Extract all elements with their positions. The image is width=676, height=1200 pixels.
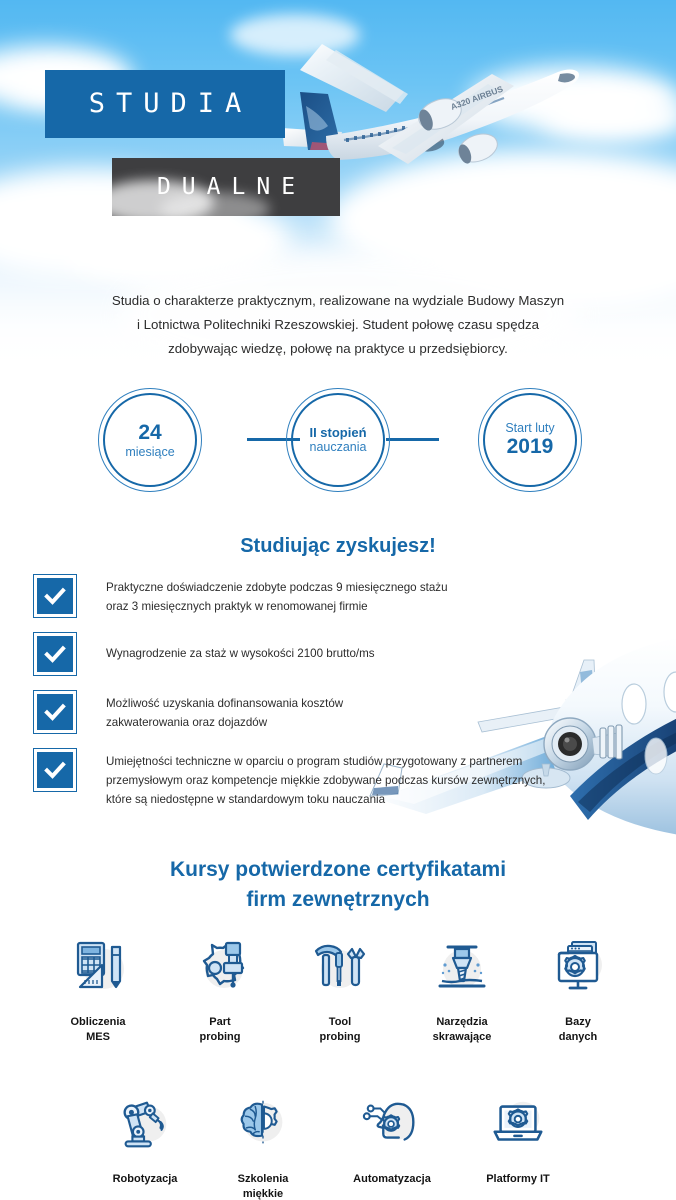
fact-circle-duration: 24 miesiące bbox=[98, 388, 202, 492]
fact-degree-value: II stopień bbox=[309, 426, 366, 441]
milling-cutter-icon bbox=[430, 935, 494, 999]
robot-arm-icon bbox=[114, 1093, 176, 1155]
benefit-text-line: Możliwość uzyskania dofinansowania koszt… bbox=[106, 694, 343, 713]
course-item-part-probing[interactable]: Part probing bbox=[160, 928, 280, 1045]
intro-line-1: Studia o charakterze praktycznym, realiz… bbox=[63, 289, 613, 313]
intro-line-2: i Lotnictwa Politechniki Rzeszowskiej. S… bbox=[63, 313, 613, 337]
connector-right bbox=[386, 438, 439, 441]
course-label-line: Part bbox=[160, 1015, 280, 1030]
fact-start-year: 2019 bbox=[505, 435, 554, 459]
benefit-item: Możliwość uzyskania dofinansowania koszt… bbox=[34, 691, 594, 733]
benefit-text-line: które są niedostępne w standardowym toku… bbox=[106, 790, 545, 809]
laptop-gear-icon bbox=[487, 1093, 549, 1155]
course-label-line: Narzędzia bbox=[402, 1015, 522, 1030]
course-label-line: miękkie bbox=[203, 1187, 323, 1200]
monitor-database-gear-icon bbox=[546, 935, 610, 999]
title-primary-text: STUDIA bbox=[45, 70, 285, 138]
course-label-line: skrawające bbox=[402, 1030, 522, 1045]
title-band-secondary: DUALNE bbox=[112, 158, 340, 216]
course-item-automatyzacja[interactable]: Automatyzacja bbox=[332, 1085, 452, 1187]
check-icon bbox=[34, 691, 76, 733]
hammer-screwdriver-wrench-icon bbox=[308, 935, 372, 999]
check-icon bbox=[34, 575, 76, 617]
check-icon bbox=[34, 633, 76, 675]
course-label-line: probing bbox=[160, 1030, 280, 1045]
fact-duration-unit: miesiące bbox=[125, 445, 174, 459]
brain-gear-icon bbox=[232, 1093, 294, 1155]
key-facts-row: 24 miesiące II stopień nauczania Start l… bbox=[0, 388, 676, 498]
benefit-item: Praktyczne doświadczenie zdobyte podczas… bbox=[34, 575, 594, 617]
benefit-item: Wynagrodzenie za staż w wysokości 2100 b… bbox=[34, 633, 594, 675]
benefit-text-line: Praktyczne doświadczenie zdobyte podczas… bbox=[106, 578, 448, 597]
course-label-line: Bazy bbox=[518, 1015, 638, 1030]
title-band-primary: STUDIA bbox=[45, 70, 285, 138]
course-label-line: danych bbox=[518, 1030, 638, 1045]
course-label-line: Automatyzacja bbox=[332, 1172, 452, 1187]
head-gear-circuit-icon bbox=[361, 1093, 423, 1155]
course-item-tool-probing[interactable]: Tool probing bbox=[280, 928, 400, 1045]
benefit-text-line: Wynagrodzenie za staż w wysokości 2100 b… bbox=[106, 644, 375, 663]
course-label-line: Tool bbox=[280, 1015, 400, 1030]
courses-heading: Kursy potwierdzone certyfikatami firm ze… bbox=[0, 855, 676, 915]
course-label-line: Platformy IT bbox=[458, 1172, 578, 1187]
courses-heading-line-2: firm zewnętrznych bbox=[0, 885, 676, 915]
course-item-szkolenia-miekkie[interactable]: Szkolenia miękkie bbox=[203, 1085, 323, 1200]
benefits-heading: Studiując zyskujesz! bbox=[0, 535, 676, 558]
benefit-text-line: przemysłowym oraz kompetencje miękkie zd… bbox=[106, 771, 545, 790]
calculator-ruler-pencil-icon bbox=[66, 935, 130, 999]
courses-heading-line-1: Kursy potwierdzone certyfikatami bbox=[0, 855, 676, 885]
fact-start-label: Start luty bbox=[505, 421, 554, 435]
course-item-robotyzacja[interactable]: Robotyzacja bbox=[85, 1085, 205, 1187]
course-label-line: Robotyzacja bbox=[85, 1172, 205, 1187]
fact-degree-unit: nauczania bbox=[309, 440, 366, 454]
course-item-platformy-it[interactable]: Platformy IT bbox=[458, 1085, 578, 1187]
title-secondary-text: DUALNE bbox=[112, 158, 340, 216]
course-label-line: Szkolenia bbox=[203, 1172, 323, 1187]
check-icon bbox=[34, 749, 76, 791]
course-item-obliczenia-mes[interactable]: Obliczenia MES bbox=[38, 928, 158, 1045]
gear-probe-icon bbox=[188, 935, 252, 999]
fact-duration-value: 24 bbox=[125, 421, 174, 445]
course-item-narzedzia-skrawajace[interactable]: Narzędzia skrawające bbox=[402, 928, 522, 1045]
fact-circle-degree-level: II stopień nauczania bbox=[286, 388, 390, 492]
benefit-item: Umiejętności techniczne w oparciu o prog… bbox=[34, 749, 594, 809]
course-label-line: Obliczenia bbox=[38, 1015, 158, 1030]
benefit-text-line: zakwaterowania oraz dojazdów bbox=[106, 713, 343, 732]
infographic-page: A320 AIRBUS STUDIA DUALNE Studia o chara… bbox=[0, 0, 676, 1200]
course-label-line: probing bbox=[280, 1030, 400, 1045]
intro-line-3: zdobywając wiedzę, połowę na praktyce u … bbox=[63, 337, 613, 361]
intro-paragraph: Studia o charakterze praktycznym, realiz… bbox=[63, 289, 613, 361]
course-item-bazy-danych[interactable]: Bazy danych bbox=[518, 928, 638, 1045]
benefits-list: Praktyczne doświadczenie zdobyte podczas… bbox=[34, 575, 594, 809]
course-label-line: MES bbox=[38, 1030, 158, 1045]
benefit-text-line: oraz 3 miesięcznych praktyk w renomowane… bbox=[106, 597, 448, 616]
benefit-text-line: Umiejętności techniczne w oparciu o prog… bbox=[106, 752, 545, 771]
fact-circle-start-date: Start luty 2019 bbox=[478, 388, 582, 492]
